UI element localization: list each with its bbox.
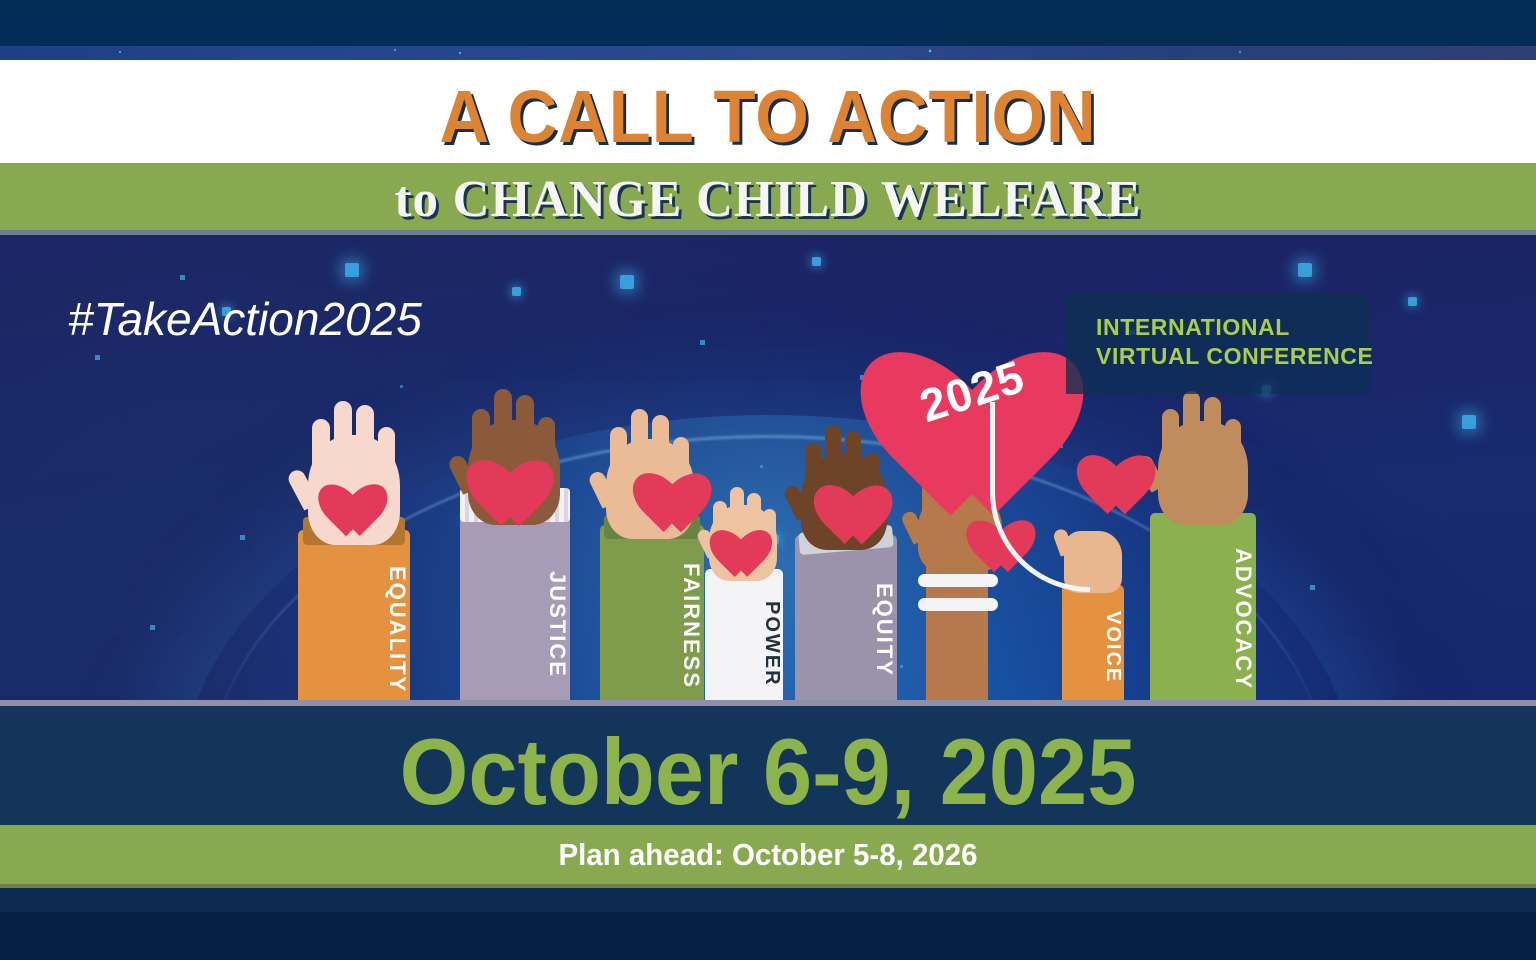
sleeve-word-justice: JUSTICE xyxy=(460,549,570,699)
finger xyxy=(610,427,627,473)
page-subtitle: to CHANGE CHILD WELFARE xyxy=(15,170,1520,229)
pixel-star xyxy=(95,355,100,360)
sleeve-word-equality: EQUALITY xyxy=(298,561,410,699)
pixel-star xyxy=(1298,263,1312,277)
sleeve-word-power: POWER xyxy=(705,589,783,699)
plan-ahead-text: Plan ahead: October 5-8, 2026 xyxy=(38,837,1497,873)
top-pixel-strip xyxy=(0,46,1536,60)
conference-label: INTERNATIONAL VIRTUAL CONFERENCE xyxy=(1096,313,1376,372)
conference-banner: A CALL TO ACTION to CHANGE CHILD WELFARE xyxy=(0,0,1536,960)
bangle xyxy=(918,574,998,587)
top-navy-bar xyxy=(0,0,1536,46)
hand-power: POWER xyxy=(705,490,783,705)
pixel-star xyxy=(900,665,903,668)
pixel-star xyxy=(512,287,521,296)
hand-justice: JUSTICE xyxy=(460,395,570,705)
mini-heart-fairness xyxy=(634,447,710,517)
pixel-star xyxy=(1462,415,1476,429)
mini-heart-justice xyxy=(468,431,552,509)
pixel-star xyxy=(1408,297,1417,306)
pixel-star xyxy=(620,275,634,289)
hand-fairness: FAIRNESS xyxy=(600,415,704,705)
pixel-star xyxy=(700,340,705,345)
sleeve-word-fairness: FAIRNESS xyxy=(600,553,704,699)
page-title: A CALL TO ACTION xyxy=(54,74,1482,159)
mini-heart-equality xyxy=(320,461,386,523)
finger xyxy=(1225,419,1241,459)
sleeve-word-equity: EQUITY xyxy=(795,561,897,699)
conference-line-2: VIRTUAL CONFERENCE xyxy=(1096,342,1376,371)
pixel-star xyxy=(345,263,359,277)
sleeve-word-voice: VOICE xyxy=(1062,595,1124,699)
hand-equality: EQUALITY xyxy=(298,405,410,705)
finger xyxy=(1162,409,1179,455)
pixel-star xyxy=(760,465,763,468)
finger xyxy=(1204,397,1221,449)
finger xyxy=(1183,391,1200,447)
hand-advocacy: ADVOCACY xyxy=(1150,403,1256,705)
sleeve-word-advocacy: ADVOCACY xyxy=(1150,539,1256,699)
pixel-star xyxy=(400,385,403,388)
mini-heart-power xyxy=(711,509,771,565)
hashtag-label: #TakeAction2025 xyxy=(68,292,422,346)
finger xyxy=(334,401,352,459)
bangle xyxy=(918,598,998,611)
pixel-star xyxy=(180,275,185,280)
conference-line-1: INTERNATIONAL xyxy=(1096,313,1376,342)
bottom-navy-highlight xyxy=(0,888,1536,912)
pixel-star xyxy=(150,625,155,630)
finger xyxy=(356,405,374,461)
pixel-star xyxy=(812,257,821,266)
pixel-star xyxy=(240,535,245,540)
finger xyxy=(312,419,330,467)
pixel-star xyxy=(1310,585,1315,590)
event-date: October 6-9, 2025 xyxy=(46,718,1490,826)
